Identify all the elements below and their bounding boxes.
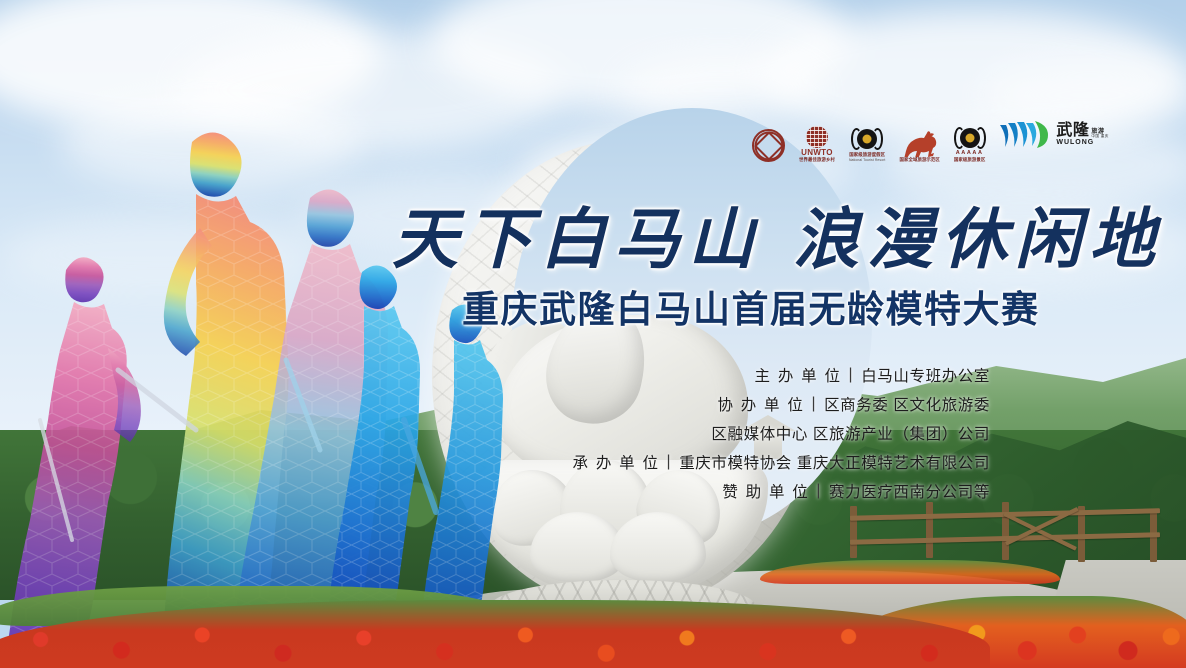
credit-label: 承办单位 <box>573 451 659 473</box>
credit-value: 重庆市模特协会 重庆大正模特艺术有限公司 <box>679 451 990 473</box>
unwto-wordmark: UNWTO <box>801 149 833 157</box>
world-heritage-emblem <box>752 106 785 162</box>
flower-strip-back <box>760 560 1060 584</box>
unwto-caption-cn: 世界最佳旅游乡村 <box>799 157 835 163</box>
credit-separator: | <box>849 366 854 384</box>
credit-value: 白马山专班办公室 <box>861 364 990 386</box>
scenic-area-caption-cn: 国家级旅游景区 <box>954 157 985 163</box>
credit-row: 赞助单位 | 赛力医疗西南分公司等 <box>0 480 990 502</box>
credit-separator: | <box>811 395 816 413</box>
wreath-icon <box>852 126 882 152</box>
resort-caption-en: National Tourist Resort <box>849 158 886 162</box>
wreath-icon <box>955 125 985 151</box>
credit-row: 主办单位 | 白马山专班办公室 <box>0 364 990 386</box>
flying-horse-icon <box>902 129 938 157</box>
partner-logo-row: UNWTO 世界最佳旅游乡村 国家级旅游度假区 National Tourist… <box>752 106 1109 162</box>
page-subtitle: 重庆武隆白马山首届无龄模特大赛 <box>462 288 1072 332</box>
national-tourism-resort-logo: 国家级旅游度假区 National Tourist Resort <box>849 106 886 162</box>
globe-icon <box>806 126 828 148</box>
page-title: 天下白马山 浪漫休闲地 <box>392 196 1132 282</box>
demo-zone-caption-cn: 国家全域旅游示范区 <box>899 157 939 163</box>
credit-label: 赞助单位 <box>722 480 808 502</box>
credit-row: 协办单位 | 区融媒体中心 区旅游产业（集团）公司 <box>0 422 990 444</box>
credit-value: 区商务委 区文化旅游委 <box>824 393 990 415</box>
credit-separator: | <box>667 453 672 471</box>
organizer-credits-block: 主办单位 | 白马山专班办公室 协办单位 | 区商务委 区文化旅游委 协办单位 … <box>0 364 990 502</box>
unwto-logo: UNWTO 世界最佳旅游乡村 <box>799 106 835 162</box>
credit-label: 协办单位 <box>717 393 803 415</box>
aaaaa-scenic-area-logo: AAAAA 国家级旅游景区 <box>954 106 985 162</box>
credit-separator: | <box>816 482 821 500</box>
credit-value: 区融媒体中心 区旅游产业（集团）公司 <box>711 422 990 444</box>
credit-label: 主办单位 <box>755 364 841 386</box>
credit-row: 协办单位 | 区商务委 区文化旅游委 <box>0 393 990 415</box>
world-heritage-icon <box>752 129 785 162</box>
wooden-fence <box>850 502 1180 562</box>
wulong-wordmark-cn: 武隆 <box>1056 123 1089 139</box>
wave-leaf-icon <box>999 119 1051 149</box>
wulong-tourism-logo: 武隆 旅游 中国 重庆 WULONG <box>999 106 1108 162</box>
credit-row: 承办单位 | 重庆市模特协会 重庆大正模特艺术有限公司 <box>0 451 990 473</box>
national-tourism-demo-zone-logo: 国家全域旅游示范区 <box>899 106 939 162</box>
wulong-wordmark-en: WULONG <box>1056 139 1094 146</box>
promotional-poster: UNWTO 世界最佳旅游乡村 国家级旅游度假区 National Tourist… <box>0 0 1186 668</box>
credit-value: 赛力医疗西南分公司等 <box>829 480 990 502</box>
